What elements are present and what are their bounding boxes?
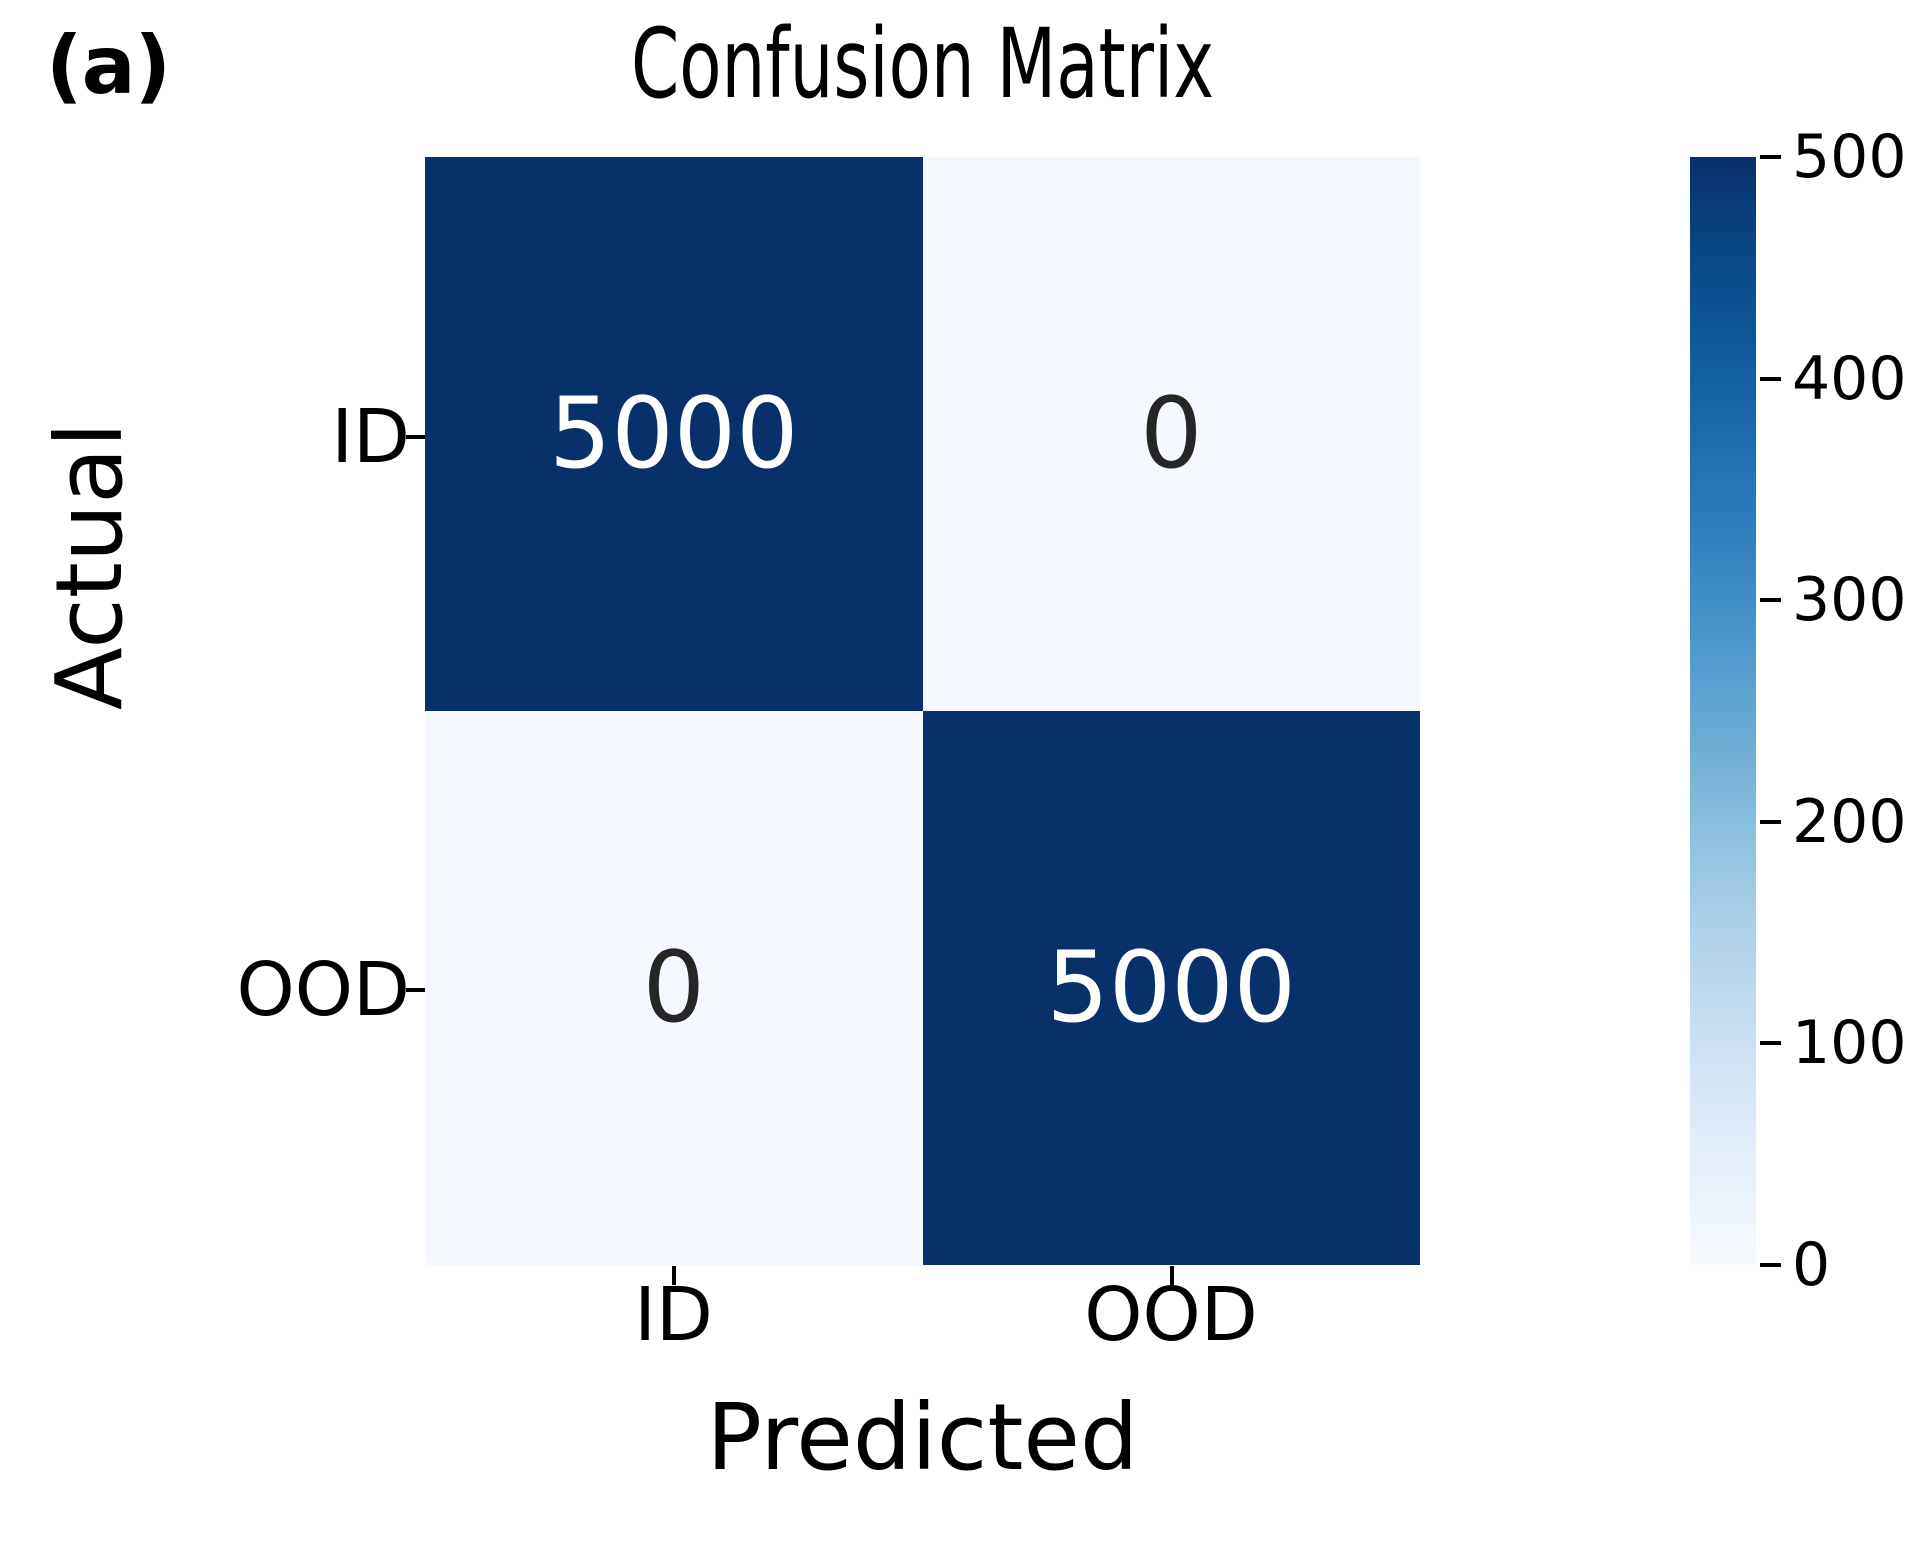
colorbar-tick-mark-3000 xyxy=(1760,598,1781,602)
y-tick-mark-ood xyxy=(406,988,425,992)
colorbar-tick-label-5000: 5000 xyxy=(1792,127,1910,187)
colorbar-tick-mark-5000 xyxy=(1760,155,1781,159)
colorbar-tick-mark-4000 xyxy=(1760,377,1781,381)
x-axis-label: Predicted xyxy=(425,1392,1420,1484)
x-tick-label-ood: OOD xyxy=(922,1278,1420,1352)
y-tick-label-id: ID xyxy=(331,400,410,474)
y-tick-label-ood: OOD xyxy=(237,953,410,1027)
colorbar-tick-label-1000: 1000 xyxy=(1792,1013,1910,1073)
y-axis-label: Actual xyxy=(44,216,136,916)
colorbar-tick-label-0: 0 xyxy=(1792,1235,1830,1295)
colorbar-tick-label-2000: 2000 xyxy=(1792,792,1910,852)
colorbar-gradient xyxy=(1690,157,1756,1265)
heatmap-cell-ood-id: 0 xyxy=(425,711,923,1265)
colorbar-tick-mark-2000 xyxy=(1760,820,1781,824)
x-tick-label-id: ID xyxy=(425,1278,922,1352)
colorbar-tick-label-4000: 4000 xyxy=(1792,349,1910,409)
chart-title: Confusion Matrix xyxy=(525,16,1321,112)
colorbar-tick-label-3000: 3000 xyxy=(1792,570,1910,630)
panel-letter: (a) xyxy=(46,26,170,106)
heatmap-cell-id-id: 5000 xyxy=(425,157,923,711)
heatmap-cell-ood-ood: 5000 xyxy=(923,711,1421,1265)
confusion-matrix-figure: (a) Confusion Matrix 5000 0 0 5000 ID OO… xyxy=(0,0,1910,1556)
heatmap-grid: 5000 0 0 5000 xyxy=(425,157,1420,1265)
colorbar-tick-mark-1000 xyxy=(1760,1041,1781,1045)
heatmap-cell-id-ood: 0 xyxy=(923,157,1421,711)
y-tick-mark-id xyxy=(406,435,425,439)
colorbar-tick-mark-0 xyxy=(1760,1263,1781,1267)
